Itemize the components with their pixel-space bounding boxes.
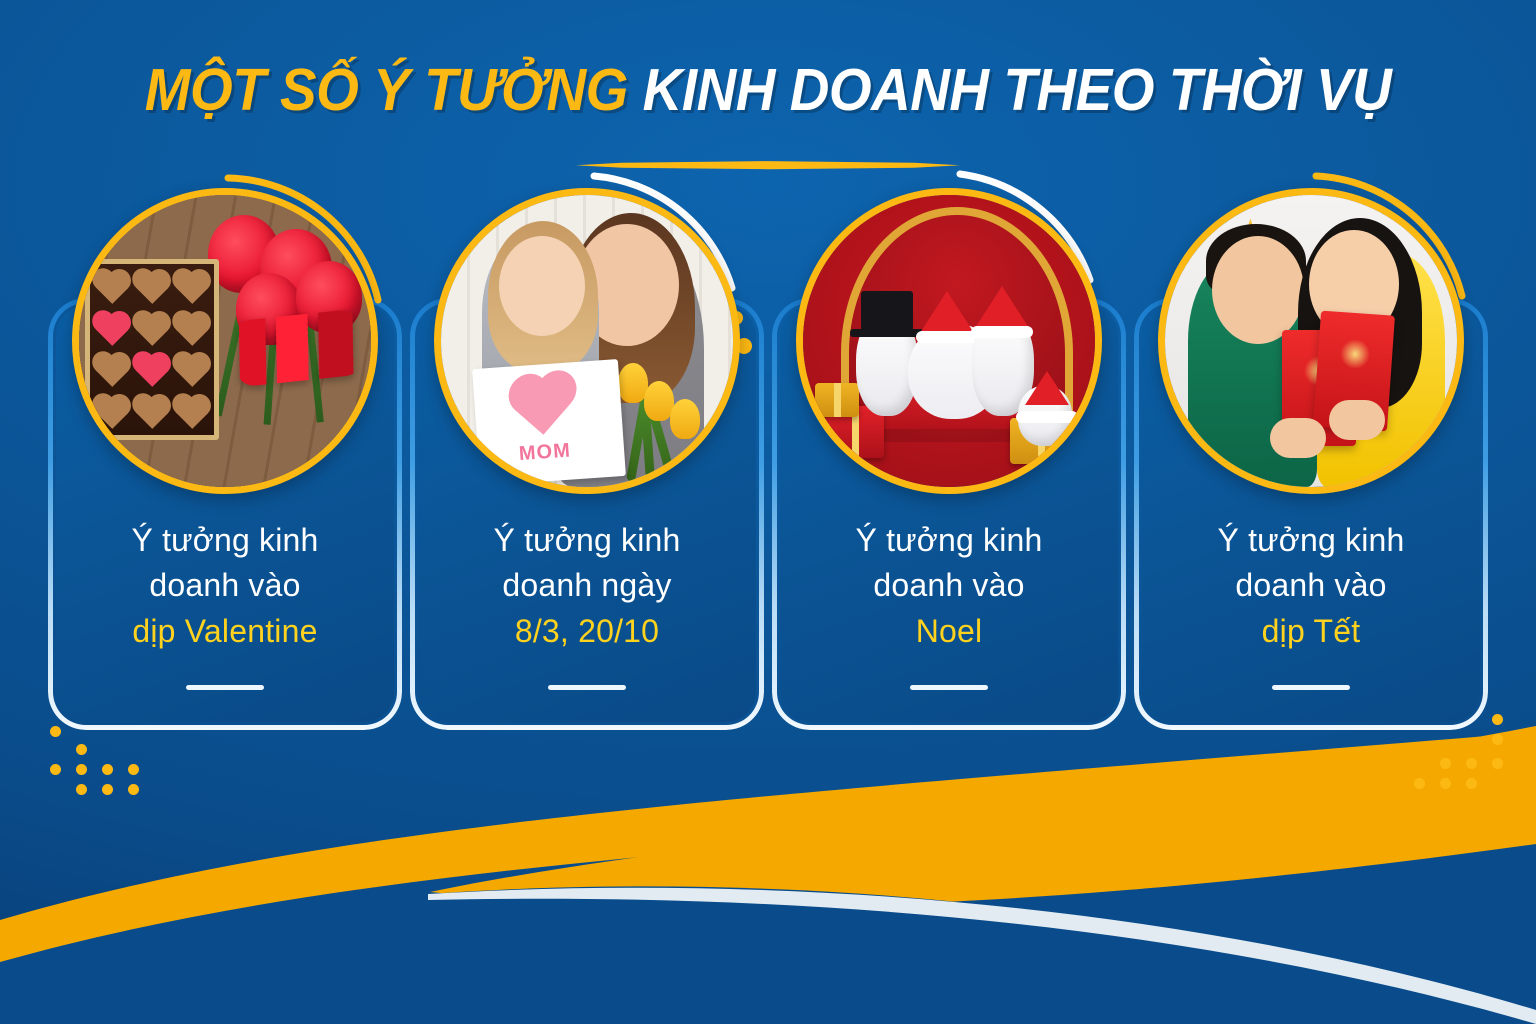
idea-card-tet[interactable]: Ý tưởng kinh doanh vào dịp Tết bbox=[1142, 306, 1480, 722]
photo-tet bbox=[1158, 188, 1464, 494]
idea-card-text-womens-day: Ý tưởng kinh doanh ngày 8/3, 20/10 bbox=[418, 518, 756, 654]
photo-womens-day: MOM bbox=[434, 188, 740, 494]
idea-card-valentine[interactable]: Ý tưởng kinh doanh vào dịp Valentine bbox=[56, 306, 394, 722]
card-highlight: 8/3, 20/10 bbox=[418, 609, 756, 654]
dot-grid-right bbox=[1430, 712, 1536, 782]
card-line-1: Ý tưởng kinh bbox=[418, 518, 756, 563]
infographic-canvas: MỘT SỐ Ý TƯỞNG KINH DOANH THEO THỜI VỤ bbox=[0, 0, 1536, 1024]
idea-card-text-tet: Ý tưởng kinh doanh vào dịp Tết bbox=[1142, 518, 1480, 654]
card-underline bbox=[548, 685, 626, 690]
mom-card-word: MOM bbox=[518, 440, 571, 467]
card-line-1: Ý tưởng kinh bbox=[1142, 518, 1480, 563]
card-line-1: Ý tưởng kinh bbox=[56, 518, 394, 563]
idea-card-text-noel: Ý tưởng kinh doanh vào Noel bbox=[780, 518, 1118, 654]
idea-card-noel[interactable]: Ý tưởng kinh doanh vào Noel bbox=[780, 306, 1118, 722]
card-line-2: doanh ngày bbox=[418, 563, 756, 608]
photo-noel bbox=[796, 188, 1102, 494]
title-part-2: KINH DOANH THEO THỜI VỤ bbox=[643, 57, 1392, 123]
idea-card-womens-day[interactable]: MOM Ý tưởng kinh doanh ngày 8/3, 20/10 bbox=[418, 306, 756, 722]
page-title: MỘT SỐ Ý TƯỞNG KINH DOANH THEO THỜI VỤ bbox=[0, 60, 1536, 122]
photo-valentine bbox=[72, 188, 378, 494]
idea-card-text-valentine: Ý tưởng kinh doanh vào dịp Valentine bbox=[56, 518, 394, 654]
card-underline bbox=[910, 685, 988, 690]
card-highlight: dịp Tết bbox=[1142, 609, 1480, 654]
bottom-swoosh-decoration bbox=[0, 724, 1536, 1024]
card-line-2: doanh vào bbox=[780, 563, 1118, 608]
title-part-1: MỘT SỐ Ý TƯỞNG bbox=[145, 57, 628, 123]
card-highlight: dịp Valentine bbox=[56, 609, 394, 654]
dot-grid-left bbox=[44, 722, 164, 792]
card-line-2: doanh vào bbox=[56, 563, 394, 608]
card-highlight: Noel bbox=[780, 609, 1118, 654]
card-underline bbox=[1272, 685, 1350, 690]
card-line-1: Ý tưởng kinh bbox=[780, 518, 1118, 563]
card-line-2: doanh vào bbox=[1142, 563, 1480, 608]
title-divider bbox=[576, 158, 960, 172]
idea-card-list: Ý tưởng kinh doanh vào dịp Valentine bbox=[56, 306, 1480, 722]
card-underline bbox=[186, 685, 264, 690]
